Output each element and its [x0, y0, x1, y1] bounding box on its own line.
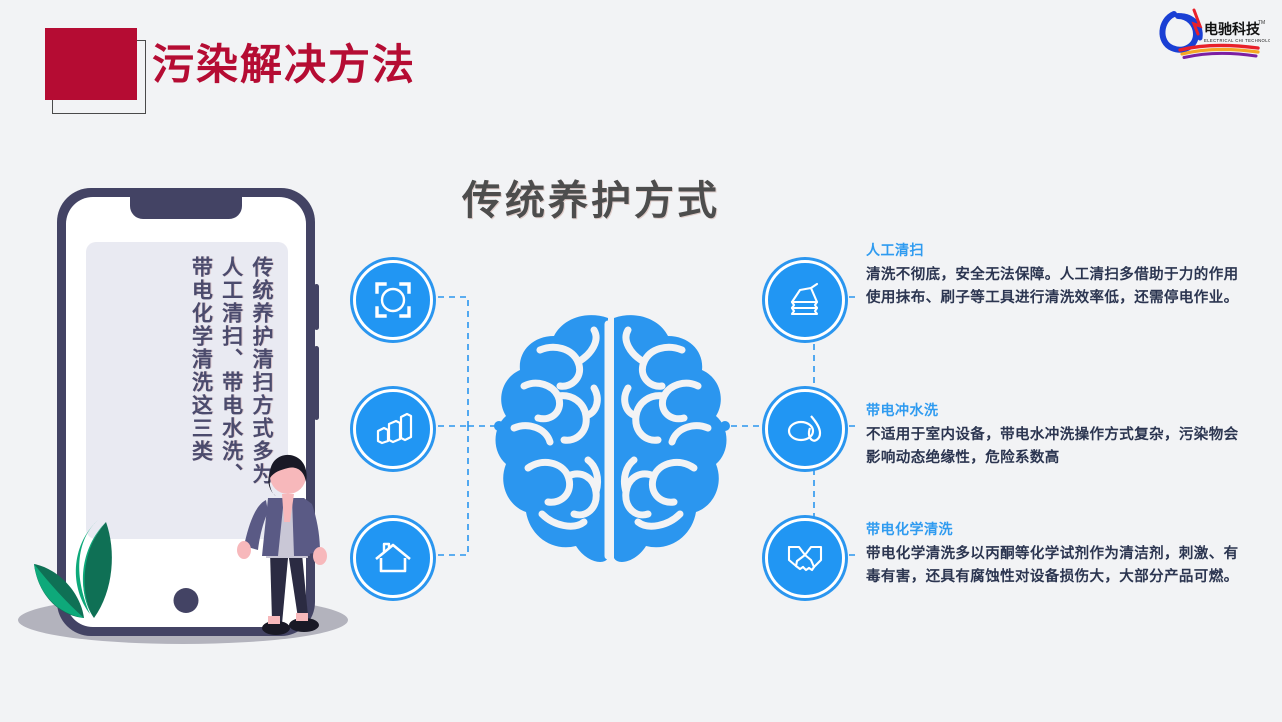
info-title-1: 人工清扫: [866, 240, 1246, 260]
water-drop-glyph: [783, 407, 827, 451]
handshake-glyph: [783, 536, 827, 580]
info-title-3: 带电化学清洗: [866, 519, 1246, 539]
house-icon[interactable]: [353, 518, 433, 598]
slide-canvas: 污染解决方法 电驰科技 ELECTRICAL CHI TECHNOLOGY TM…: [0, 0, 1282, 722]
info-block-1: 人工清扫 清洗不彻底，安全无法保障。人工清扫多借助于力的作用使用抹布、刷子等工具…: [866, 240, 1246, 311]
phone-vertical-line-3: 带电化学清洗这三类: [187, 256, 215, 529]
page-title: 污染解决方法: [152, 42, 416, 88]
broom-glyph: [783, 278, 827, 322]
info-body-1: 清洗不彻底，安全无法保障。人工清扫多借助于力的作用使用抹布、刷子等工具进行清洗效…: [866, 264, 1246, 311]
phone-home-button: [174, 588, 199, 613]
phone-notch: [130, 197, 242, 219]
phone-side-button-2: [314, 346, 319, 420]
info-block-3: 带电化学清洗 带电化学清洗多以丙酮等化学试剂作为清洁剂，刺激、有毒有害，还具有腐…: [866, 519, 1246, 590]
header-square-fill: [45, 28, 137, 100]
logo-brand-cn: 电驰科技: [1204, 21, 1261, 38]
logo-trademark: TM: [1258, 20, 1265, 26]
house-glyph: [371, 536, 415, 580]
focus-frame-glyph: [371, 278, 415, 322]
info-block-2: 带电冲水洗 不适用于室内设备，带电水冲洗操作方式复杂，污染物会影响动态绝缘性，危…: [866, 400, 1246, 471]
brain-icon: [480, 300, 742, 582]
bar-chart-glyph: [371, 407, 415, 451]
water-drop-icon[interactable]: [765, 389, 845, 469]
company-logo: 电驰科技 ELECTRICAL CHI TECHNOLOGY TM: [1150, 4, 1270, 60]
svg-text:电驰科技: 电驰科技: [1204, 21, 1261, 38]
info-body-2: 不适用于室内设备，带电水冲洗操作方式复杂，污染物会影响动态绝缘性，危险系数高: [866, 424, 1246, 471]
person-illustration: [232, 448, 342, 653]
info-body-3: 带电化学清洗多以丙酮等化学试剂作为清洁剂，刺激、有毒有害，还具有腐蚀性对设备损伤…: [866, 543, 1246, 590]
info-title-2: 带电冲水洗: [866, 400, 1246, 420]
handshake-icon[interactable]: [765, 518, 845, 598]
leaf-decoration: [20, 510, 150, 635]
phone-side-button-1: [314, 284, 319, 330]
focus-frame-icon[interactable]: [353, 260, 433, 340]
section-heading: 传统养护方式: [462, 168, 720, 226]
bar-chart-icon[interactable]: [353, 389, 433, 469]
broom-icon[interactable]: [765, 260, 845, 340]
logo-brand-en: ELECTRICAL CHI TECHNOLOGY: [1204, 38, 1270, 43]
